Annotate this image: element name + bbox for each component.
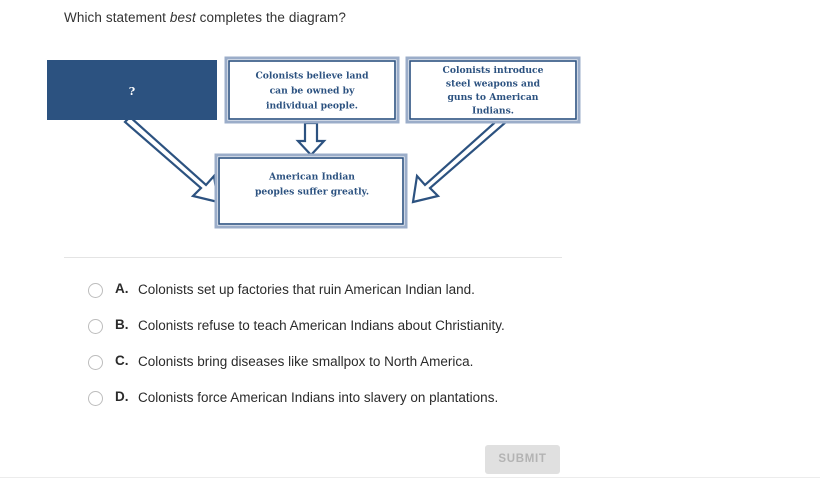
diagram-box-top-right-line3: guns to American [448,92,539,103]
arrow-diagonal-down-right [125,117,218,202]
option-letter-b: B. [115,317,131,332]
option-row-d[interactable]: D. Colonists force American Indians into… [64,384,564,420]
option-letter-a: A. [115,281,131,296]
diagram-box-top-middle-line2: can be owned by [270,86,356,97]
option-letter-c: C. [115,353,131,368]
page-title: Which statement best completes the diagr… [64,9,346,27]
radio-button-d[interactable] [88,391,103,406]
arrow-diagonal-down-left [413,117,506,202]
option-text-a: Colonists set up factories that ruin Ame… [138,281,475,299]
diagram-box-top-right-line4: Indians. [472,106,514,117]
diagram: .dgm-text { font-family: "DejaVu Serif",… [46,45,591,235]
diagram-box-top-middle-line1: Colonists believe land [255,71,369,82]
arrow-down [298,123,324,155]
diagram-box-unknown: ? [47,60,217,120]
question-emphasis: best [170,10,196,25]
radio-button-b[interactable] [88,319,103,334]
radio-button-c[interactable] [88,355,103,370]
submit-button[interactable]: SUBMIT [485,445,560,474]
question-text-before: Which statement [64,10,170,25]
question-text-after: completes the diagram? [196,10,346,25]
bottom-divider [0,477,820,478]
answer-options: A. Colonists set up factories that ruin … [64,276,564,420]
option-row-a[interactable]: A. Colonists set up factories that ruin … [64,276,564,312]
diagram-box-top-middle: Colonists believe land can be owned by i… [226,58,398,122]
diagram-box-top-right-line1: Colonists introduce [443,65,544,76]
section-divider [64,257,562,258]
option-text-b: Colonists refuse to teach American India… [138,317,505,335]
diagram-box-top-middle-line3: individual people. [266,101,358,112]
radio-button-a[interactable] [88,283,103,298]
option-row-c[interactable]: C. Colonists bring diseases like smallpo… [64,348,564,384]
diagram-box-result-line1: American Indian [268,172,355,183]
diagram-box-unknown-label: ? [129,85,135,98]
option-letter-d: D. [115,389,131,404]
option-row-b[interactable]: B. Colonists refuse to teach American In… [64,312,564,348]
diagram-box-top-right: Colonists introduce steel weapons and gu… [407,58,579,122]
diagram-box-top-right-line2: steel weapons and [446,79,541,90]
diagram-box-result-line2: peoples suffer greatly. [255,187,369,198]
option-text-c: Colonists bring diseases like smallpox t… [138,353,473,371]
option-text-d: Colonists force American Indians into sl… [138,389,498,407]
diagram-box-result: American Indian peoples suffer greatly. [216,155,406,227]
